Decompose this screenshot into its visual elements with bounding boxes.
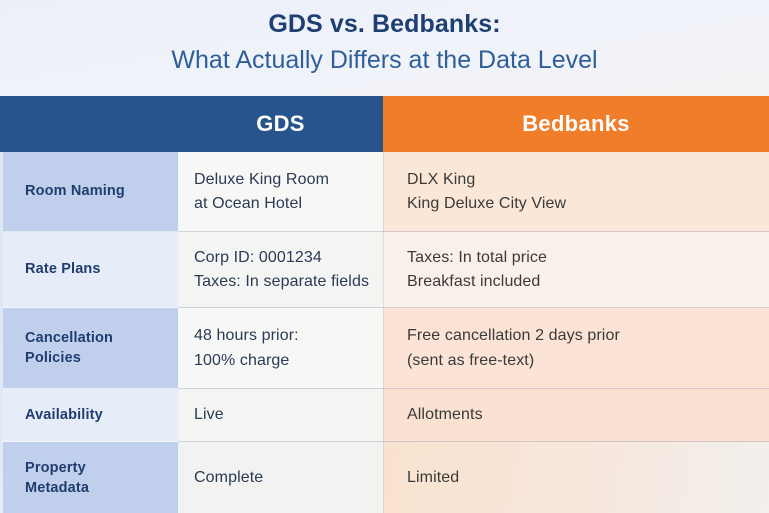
table-row: Availability Live Allotments — [0, 389, 769, 442]
page-subtitle: What Actually Differs at the Data Level — [171, 44, 597, 77]
bedbanks-note: (sent as free-text) — [407, 349, 757, 373]
bedbanks-cell: Free cancellation 2 days prior (sent as … — [383, 308, 769, 389]
header-label-gds: GDS — [256, 111, 305, 137]
page-title: GDS vs. Bedbanks: — [268, 9, 500, 40]
gds-cell: Complete — [178, 442, 383, 513]
gds-cell: Corp ID: 0001234 Taxes: In separate fiel… — [178, 232, 383, 308]
header-cell-blank — [0, 96, 178, 152]
row-label-cell: Room Naming — [0, 152, 178, 232]
row-label-cell: Rate Plans — [0, 232, 178, 308]
header-label-bedbanks: Bedbanks — [522, 111, 630, 137]
infographic-page: GDS vs. Bedbanks: What Actually Differs … — [0, 0, 769, 513]
table-left-edge — [0, 96, 3, 513]
header-cell-bedbanks: Bedbanks — [383, 96, 769, 152]
gds-line: Live — [194, 403, 373, 427]
gds-line: Complete — [194, 466, 373, 490]
row-label: Room Naming — [25, 182, 170, 201]
bedbanks-line: Limited — [407, 466, 757, 490]
bedbanks-cell: Allotments — [383, 389, 769, 442]
row-label: Cancellation — [25, 329, 170, 348]
gds-line: 100% charge — [194, 349, 373, 373]
gds-line: Deluxe King Room — [194, 168, 373, 192]
gds-line: Taxes: In separate fields — [194, 270, 373, 294]
row-label: Metadata — [25, 479, 170, 498]
column-divider — [383, 152, 384, 513]
table-row: Rate Plans Corp ID: 0001234 Taxes: In se… — [0, 232, 769, 308]
gds-line: 48 hours prior: — [194, 324, 373, 348]
bedbanks-cell: Limited — [383, 442, 769, 513]
gds-cell: Live — [178, 389, 383, 442]
row-label: Property — [25, 459, 170, 478]
row-label: Availability — [25, 406, 170, 425]
table-row: Room Naming Deluxe King Room at Ocean Ho… — [0, 152, 769, 232]
gds-cell: 48 hours prior: 100% charge — [178, 308, 383, 389]
bedbanks-line: Taxes: In total price — [407, 246, 757, 270]
header-cell-gds: GDS — [178, 96, 383, 152]
bedbanks-line: DLX King — [407, 168, 757, 192]
bedbanks-cell: DLX King King Deluxe City View — [383, 152, 769, 232]
row-label: Rate Plans — [25, 260, 170, 279]
bedbanks-line: Breakfast included — [407, 270, 757, 294]
row-label-cell: Cancellation Policies — [0, 308, 178, 389]
comparison-table: GDS Bedbanks Room Naming Deluxe King Roo… — [0, 96, 769, 513]
bedbanks-cell: Taxes: In total price Breakfast included — [383, 232, 769, 308]
table-row: Property Metadata Complete Limited — [0, 442, 769, 513]
bedbanks-line: Allotments — [407, 403, 757, 427]
gds-line: Corp ID: 0001234 — [194, 246, 373, 270]
bedbanks-line: Free cancellation 2 days prior — [407, 324, 757, 348]
table-row: Cancellation Policies 48 hours prior: 10… — [0, 308, 769, 389]
bedbanks-line: King Deluxe City View — [407, 192, 757, 216]
row-label-cell: Property Metadata — [0, 442, 178, 513]
row-label-cell: Availability — [0, 389, 178, 442]
title-block: GDS vs. Bedbanks: What Actually Differs … — [0, 0, 769, 96]
table-header-row: GDS Bedbanks — [0, 96, 769, 152]
gds-line: at Ocean Hotel — [194, 192, 373, 216]
row-label: Policies — [25, 349, 170, 368]
gds-cell: Deluxe King Room at Ocean Hotel — [178, 152, 383, 232]
